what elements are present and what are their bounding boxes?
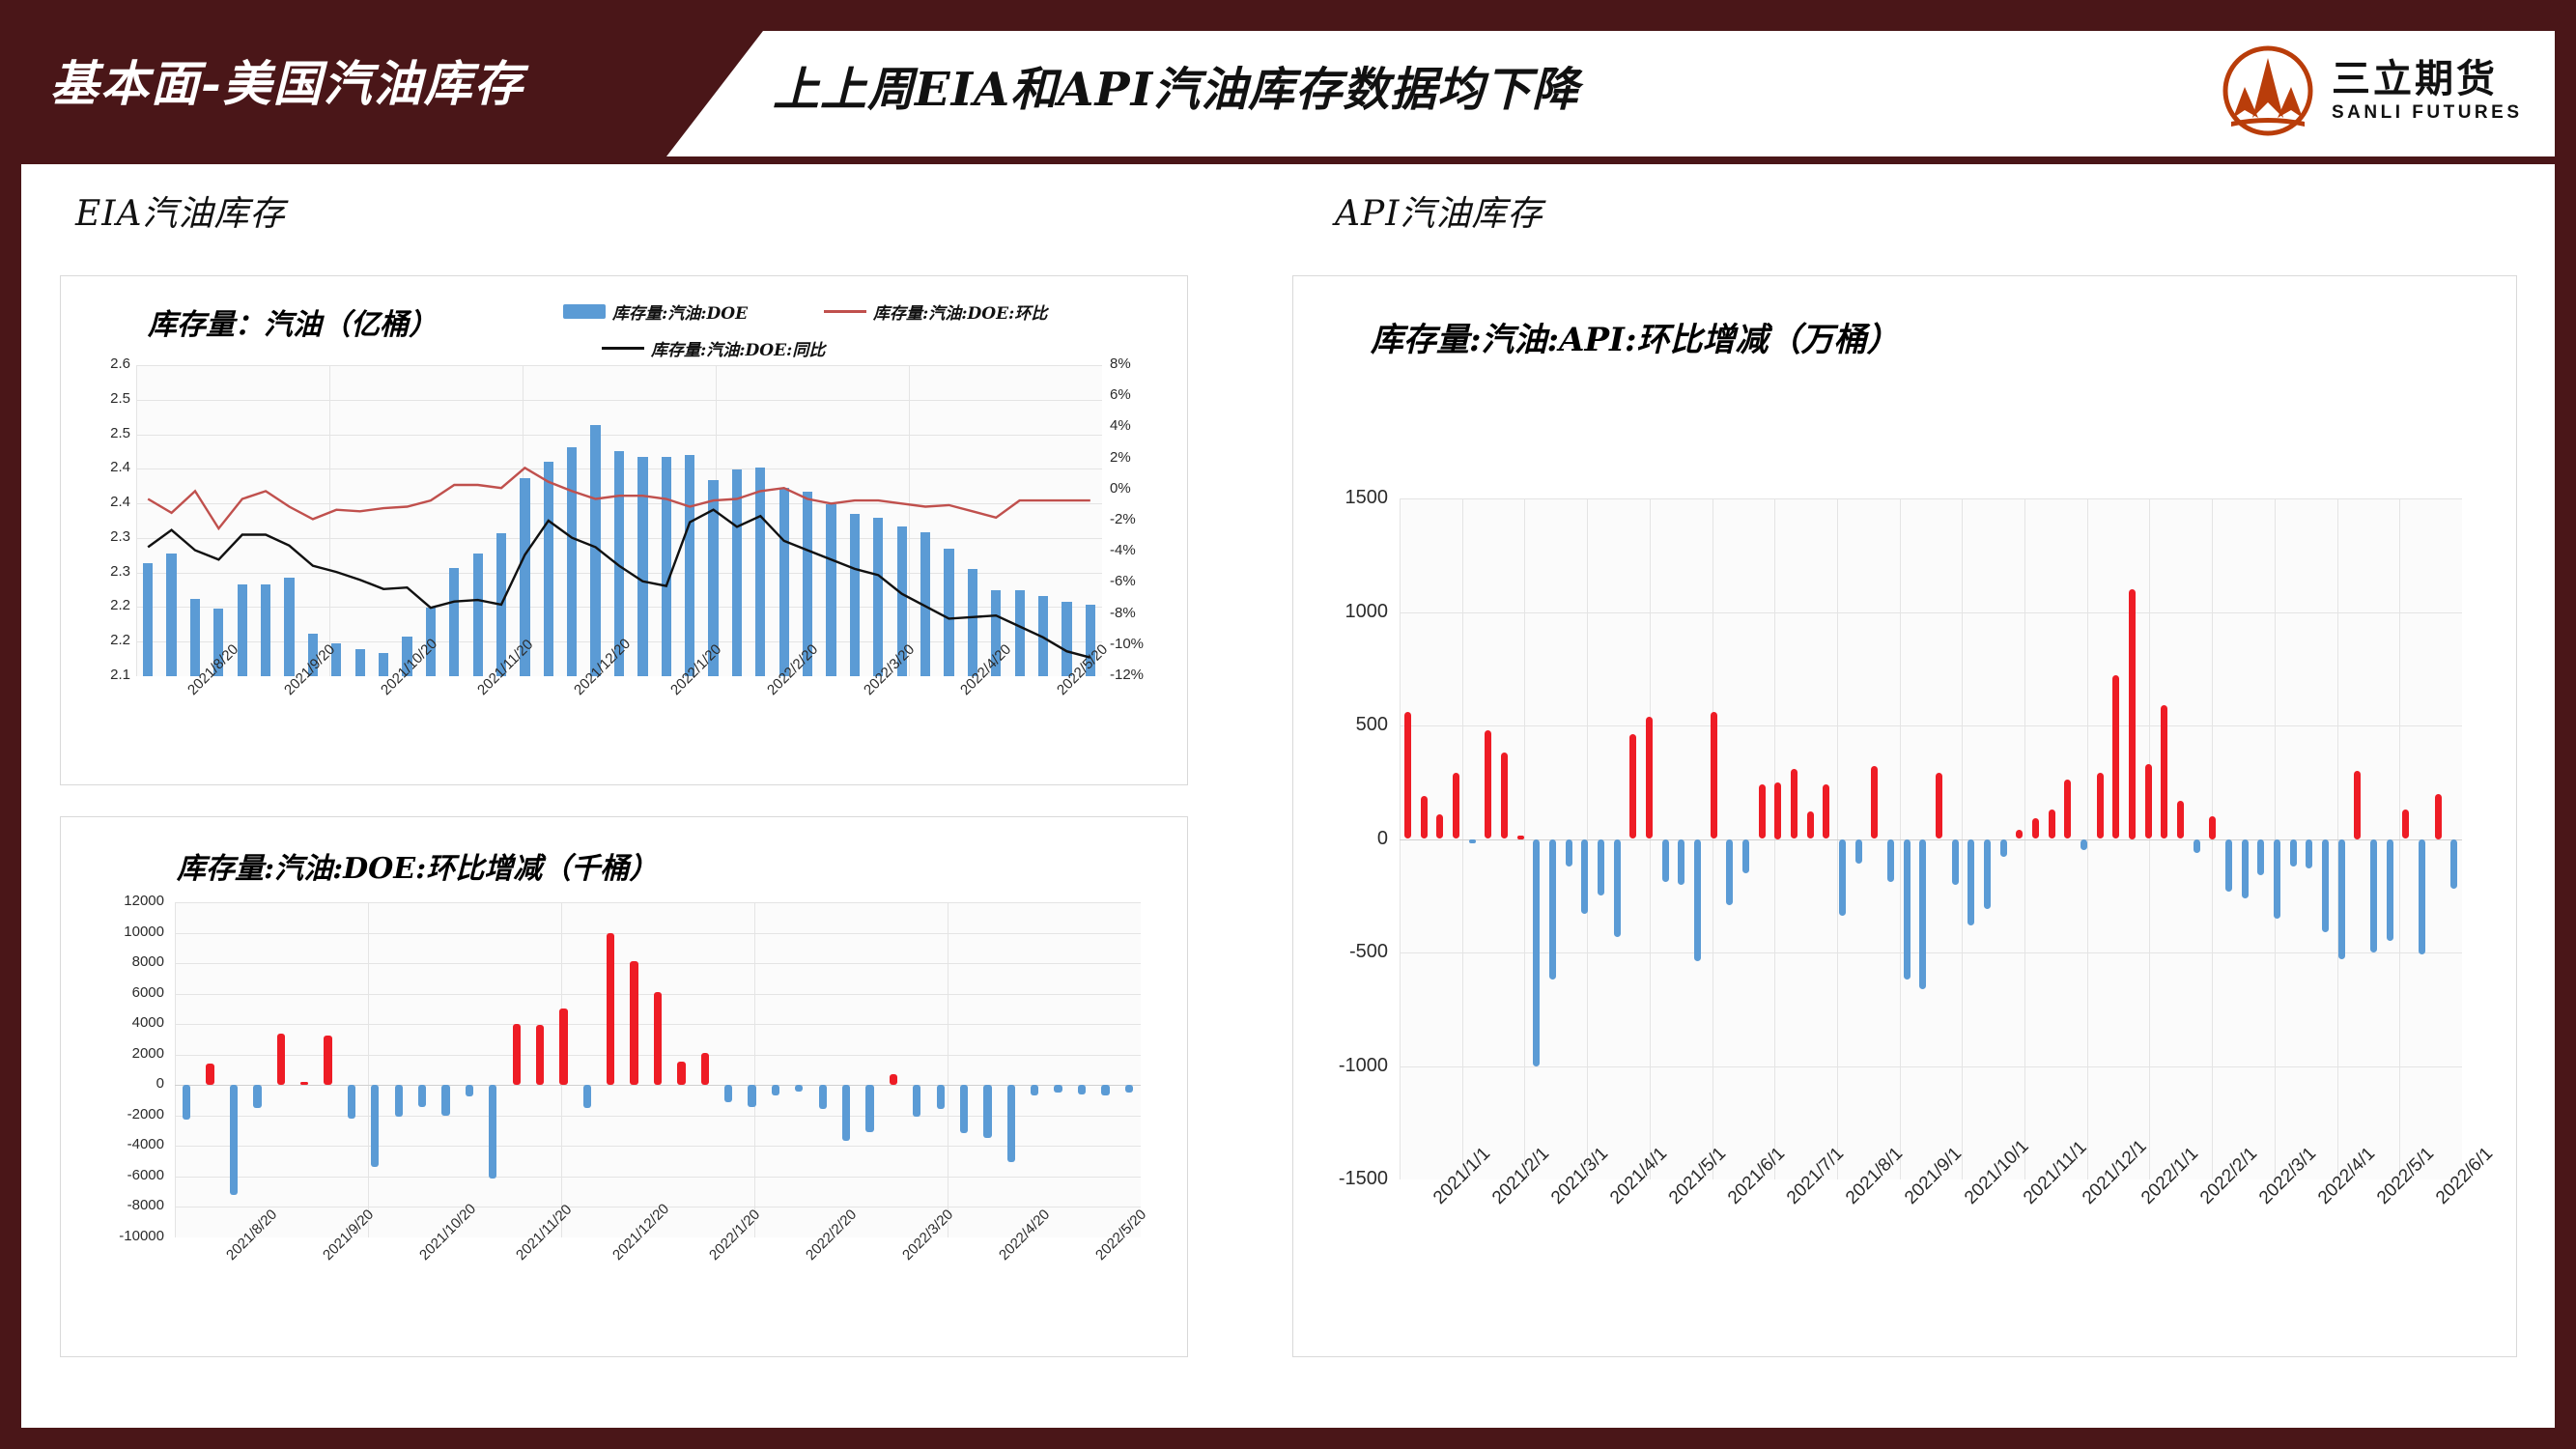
y-tick-label: -1000 [1313,1055,1388,1077]
bar-eia-change [395,1085,403,1116]
bar-api-change [1629,734,1636,838]
bar-eia-change [324,1036,331,1085]
y-tick-label: 1000 [1313,601,1388,623]
bar-eia-change [1031,1085,1038,1095]
bar-api-change [1678,839,1684,885]
gridline-vertical [175,902,176,1237]
y-tick-label: 0 [104,1075,164,1092]
bar-api-change [1919,839,1926,989]
y-tick-label: 2.4 [71,459,130,475]
bar-api-change [1614,839,1621,937]
bar-api-change [1694,839,1701,962]
bar-api-change [1871,766,1878,838]
brand-logo-text: 三立期货 SANLI FUTURES [2332,57,2523,125]
bar-api-change [2081,839,2087,851]
bar-api-change [1967,839,1974,925]
bar-api-change [1485,730,1491,839]
y-tick-label: 6000 [104,984,164,1001]
page-title: 上上周EIA和API汽油库存数据均下降 [773,46,1579,133]
bar-eia-change [937,1085,945,1109]
bar-api-change [1566,839,1572,867]
bar-api-change [1549,839,1556,980]
y2-tick-label: 4% [1110,417,1168,434]
bar-api-change [2145,764,2152,839]
zero-line [175,1085,1141,1086]
gridline-horizontal [175,1177,1141,1178]
plot-area-api-change [1400,498,2462,1179]
bar-eia-change [466,1085,473,1096]
bar-eia-change [536,1025,544,1085]
y-tick-label: 2.5 [71,390,130,407]
bar-api-change [1791,769,1798,839]
bar-api-change [2419,839,2425,955]
y-tick-label: -2000 [104,1106,164,1122]
bar-eia-change [277,1034,285,1085]
gridline-horizontal [1400,612,2462,613]
gridline-horizontal [1400,725,2462,726]
chart-title-api-change: 库存量:汽油:API:环比增减（万桶） [1371,313,1900,360]
y-tick-label: 2.2 [71,597,130,613]
bar-api-change [2370,839,2377,953]
legend-label-doe-yoy: 库存量:汽油:DOE:同比 [651,336,825,360]
gridline-horizontal [1400,952,2462,953]
bar-api-change [1904,839,1911,980]
gridline-horizontal [175,1116,1141,1117]
bar-api-change [2064,780,2071,838]
bar-api-change [1807,811,1814,838]
bar-eia-change [983,1085,991,1138]
plot-area-eia-stock [136,365,1102,676]
y2-tick-label: 8% [1110,355,1168,372]
bar-api-change [2209,816,2216,839]
y-tick-label: 8000 [104,953,164,970]
bar-api-change [2112,675,2119,838]
y2-tick-label: -2% [1110,511,1168,527]
slide-header: 基本面-美国汽油库存 上上周EIA和API汽油库存数据均下降 三立期货 SANL… [0,0,2576,164]
bar-api-change [1581,839,1588,915]
bar-eia-change [418,1085,426,1107]
gridline-horizontal [175,902,1141,903]
y-tick-label: 2.3 [71,528,130,545]
bar-api-change [2402,810,2409,839]
bar-api-change [2032,818,2039,838]
y-tick-label: 1500 [1313,487,1388,509]
section-title-api: API汽油库存 [1335,185,1543,236]
bar-eia-change [1007,1085,1015,1161]
gridline-vertical [754,902,755,1237]
bar-api-change [1662,839,1669,883]
y2-tick-label: 6% [1110,386,1168,403]
bar-eia-change [865,1085,873,1131]
bar-api-change [1711,712,1717,839]
bar-api-change [2242,839,2249,898]
y-tick-label: 2.3 [71,563,130,580]
bar-eia-change [795,1085,803,1092]
bar-api-change [2257,839,2264,876]
bar-api-change [1404,712,1411,839]
chart-title-eia-change: 库存量:汽油:DOE:环比增减（千桶） [177,844,658,887]
y-tick-label: -4000 [104,1136,164,1152]
bar-eia-change [513,1024,521,1085]
y-tick-label: -8000 [104,1197,164,1213]
bar-api-change [2225,839,2232,892]
y2-tick-label: 0% [1110,480,1168,497]
y2-tick-label: -6% [1110,573,1168,589]
gridline-horizontal [175,963,1141,964]
bar-api-change [1855,839,1862,865]
zero-line [1400,839,2462,840]
y-tick-label: -10000 [104,1228,164,1244]
bar-api-change [1421,796,1428,839]
y-tick-label: 2.6 [71,355,130,372]
bar-api-change [1984,839,1991,910]
gridline-horizontal [1400,1066,2462,1067]
bar-eia-change [300,1082,308,1085]
gridline-horizontal [175,1146,1141,1147]
gridline-horizontal [175,933,1141,934]
bar-eia-change [1125,1085,1133,1093]
bar-eia-change [253,1085,261,1108]
bar-api-change [2177,801,2184,839]
line-doe-mom [148,468,1090,528]
legend-label-doe-mom: 库存量:汽油:DOE:环比 [873,299,1047,324]
bar-api-change [2274,839,2280,919]
bar-api-change [2450,839,2457,890]
y-tick-label: 4000 [104,1014,164,1031]
y-tick-label: 2.1 [71,667,130,683]
bar-eia-change [348,1085,355,1119]
bar-eia-change [842,1085,850,1140]
bar-eia-change [748,1085,755,1106]
y2-tick-label: -4% [1110,542,1168,558]
legend-swatch-bar-icon [563,304,606,319]
legend-label-doe: 库存量:汽油:DOE [612,299,748,324]
y2-tick-label: -10% [1110,636,1168,652]
bar-api-change [1453,773,1459,838]
bar-eia-change [630,961,637,1085]
bar-api-change [2354,771,2361,839]
bar-eia-change [1054,1085,1062,1093]
y2-tick-label: -8% [1110,605,1168,621]
bar-eia-change [819,1085,827,1108]
bar-eia-change [677,1062,685,1085]
bar-eia-change [654,992,662,1085]
y2-tick-label: -12% [1110,667,1168,683]
bar-api-change [1598,839,1604,896]
y-tick-label: 500 [1313,714,1388,736]
bar-api-change [2322,839,2329,932]
bar-api-change [2161,705,2167,839]
gridline-vertical [368,902,369,1237]
legend-swatch-line-black-icon [602,347,644,350]
plot-area-eia-change [175,902,1141,1237]
bar-eia-change [890,1074,897,1086]
bar-api-change [1726,839,1733,905]
bar-eia-change [724,1085,732,1101]
bar-api-change [1839,839,1846,917]
gridline-horizontal [1400,498,2462,499]
gridline-vertical [948,902,948,1237]
bar-eia-change [206,1064,213,1086]
bar-api-change [1436,814,1443,839]
y-tick-label: -6000 [104,1167,164,1183]
bar-api-change [2049,810,2055,839]
bar-eia-change [701,1053,709,1085]
bar-api-change [2000,839,2007,858]
legend-item-doe-yoy[interactable]: 库存量:汽油:DOE:同比 [602,336,825,360]
brand-logo: 三立期货 SANLI FUTURES [2222,44,2523,137]
bar-api-change [2290,839,2297,867]
y-tick-label: 2.2 [71,632,130,648]
chart-panel-api-change: 库存量:汽油:API:环比增减（万桶） 150010005000-500-100… [1292,275,2517,1357]
y-tick-label: 2.4 [71,494,130,510]
bar-eia-change [913,1085,920,1116]
bar-eia-change [230,1085,238,1195]
bar-api-change [1952,839,1959,885]
bar-api-change [2338,839,2345,960]
bar-api-change [2387,839,2393,942]
bar-api-change [1517,836,1524,839]
chart-panel-eia-change: 库存量:汽油:DOE:环比增减（千桶） 12000100008000600040… [60,816,1188,1357]
y2-tick-label: 2% [1110,449,1168,466]
bar-api-change [1936,773,1942,838]
bar-api-change [1823,784,1829,838]
bar-api-change [1469,839,1476,844]
bar-eia-change [772,1085,779,1095]
bar-eia-change [607,933,614,1086]
bar-eia-change [441,1085,449,1115]
chart-panel-eia-stock: 库存量：汽油（亿桶） 库存量:汽油:DOE 库存量:汽油:DOE:环比 库存量:… [60,275,1188,785]
bar-api-change [1646,717,1653,839]
bar-api-change [1501,753,1508,838]
sanli-mountain-icon [2222,44,2314,137]
brand-name-en: SANLI FUTURES [2332,101,2523,125]
slide-root: 基本面-美国汽油库存 上上周EIA和API汽油库存数据均下降 三立期货 SANL… [0,0,2576,1449]
legend-item-doe-mom[interactable]: 库存量:汽油:DOE:环比 [824,299,1047,324]
bar-eia-change [1101,1085,1109,1095]
y-tick-label: 10000 [104,923,164,940]
bar-api-change [2097,773,2104,838]
bar-api-change [2194,839,2200,853]
bar-api-change [1742,839,1749,873]
bar-eia-change [583,1085,591,1107]
bar-api-change [2129,589,2136,839]
bar-eia-change [559,1009,567,1085]
bar-eia-change [1078,1085,1086,1094]
line-doe-yoy [148,510,1090,658]
bar-api-change [1774,782,1781,839]
y-tick-label: -1500 [1313,1168,1388,1190]
section-title-eia: EIA汽油库存 [75,185,286,236]
legend-item-doe[interactable]: 库存量:汽油:DOE [563,299,748,324]
bar-api-change [1759,784,1766,838]
y-tick-label: 0 [1313,828,1388,850]
y-tick-label: 2000 [104,1045,164,1062]
brand-name-cn: 三立期货 [2332,57,2498,101]
bar-eia-change [183,1085,190,1119]
y-tick-label: 12000 [104,893,164,909]
bar-eia-change [960,1085,968,1133]
bar-api-change [2435,794,2442,839]
bar-eia-change [371,1085,379,1167]
bar-api-change [2306,839,2312,869]
bar-eia-change [489,1085,496,1179]
chart-title-eia-stock: 库存量：汽油（亿桶） [148,300,438,343]
bar-api-change [1887,839,1894,883]
y-tick-label: 2.5 [71,425,130,441]
department-title: 基本面-美国汽油库存 [50,41,688,128]
y-tick-label: -500 [1313,941,1388,963]
legend-swatch-line-red-icon [824,310,866,313]
bar-api-change [1533,839,1540,1066]
